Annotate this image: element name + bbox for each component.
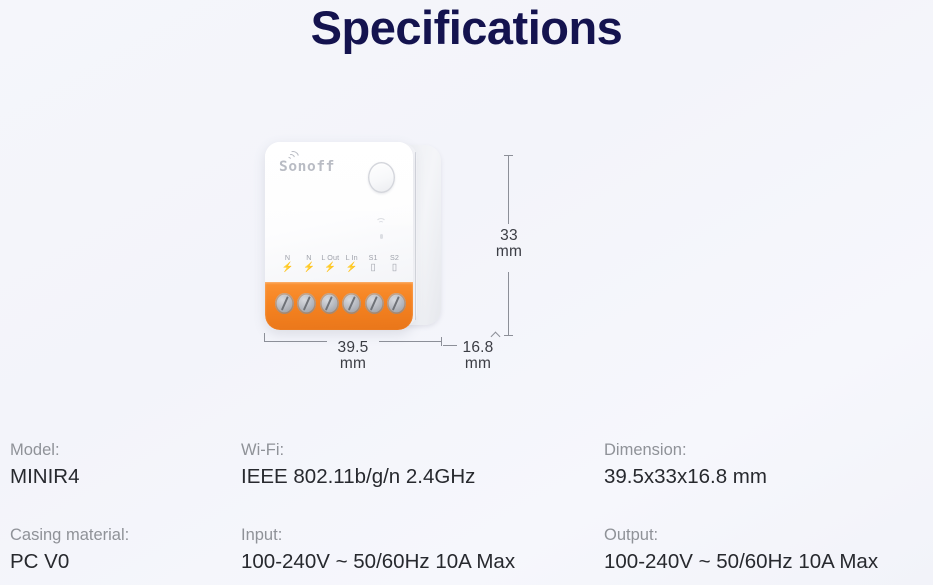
spec-label: Casing material: [10,525,129,546]
screw-terminal [320,293,339,314]
spec-row: Casing material: PC V0 Input: 100-240V ~… [0,525,933,585]
spec-label: Dimension: [604,440,767,461]
terminal-label: S1 ▯ [363,254,384,272]
depth-unit: mm [452,356,504,372]
page-title: Specifications [0,2,933,55]
terminal-label-row: N ⚡ N ⚡ L Out ⚡ L In ⚡ S1 ▯ S2 ▯ [277,254,405,272]
spec-value: 100-240V ~ 50/60Hz 10A Max [604,549,878,575]
spec-label: Model: [10,440,79,461]
screw-terminal [387,293,406,314]
push-button[interactable] [368,162,395,193]
screw-terminal [342,293,361,314]
terminal-name: S2 [384,254,405,262]
spec-item-model: Model: MINIR4 [10,440,79,489]
spec-value: IEEE 802.11b/g/n 2.4GHz [241,464,475,490]
specifications-grid: Model: MINIR4 Wi-Fi: IEEE 802.11b/g/n 2.… [0,440,933,585]
screw-terminal [365,293,384,314]
spec-value: 100-240V ~ 50/60Hz 10A Max [241,549,515,575]
width-value: 39.5 [338,339,369,356]
spec-label: Input: [241,525,515,546]
spec-item-casing-material: Casing material: PC V0 [10,525,129,574]
height-value: 33 [500,227,518,244]
device-front-face: Sonoff N ⚡ N ⚡ L Out ⚡ L In ⚡ [265,142,413,330]
height-dim-label: 33 mm [486,228,532,260]
width-dim-line-left [265,341,327,342]
spec-label: Wi-Fi: [241,440,475,461]
lightning-icon: ⚡ [341,263,362,273]
lightning-icon: ⚡ [320,263,341,273]
width-dim-line-right [379,341,441,342]
terminal-name: S1 [363,254,384,262]
sonoff-logo: Sonoff [279,160,335,175]
lightning-icon: ⚡ [277,263,298,273]
spec-item-wifi: Wi-Fi: IEEE 802.11b/g/n 2.4GHz [241,440,475,489]
lightning-icon: ⚡ [298,263,319,273]
switch-icon: ▯ [384,263,405,273]
spec-item-output: Output: 100-240V ~ 50/60Hz 10A Max [604,525,878,574]
terminal-label: N ⚡ [298,254,319,272]
terminal-label: L Out ⚡ [320,254,341,272]
terminal-name: L Out [320,254,341,262]
width-dim-label: 39.5 mm [327,340,379,372]
terminal-name: N [277,254,298,262]
depth-dim-label: 16.8 mm [452,340,504,372]
led-indicator [380,234,383,239]
spec-row: Model: MINIR4 Wi-Fi: IEEE 802.11b/g/n 2.… [0,440,933,525]
spec-value: PC V0 [10,549,129,575]
height-tick-bottom [504,335,513,336]
terminal-label: L In ⚡ [341,254,362,272]
terminal-label: S2 ▯ [384,254,405,272]
spec-label: Output: [604,525,878,546]
wifi-icon [375,218,387,227]
terminal-name: N [298,254,319,262]
width-tick-right [441,337,442,346]
spec-item-input: Input: 100-240V ~ 50/60Hz 10A Max [241,525,515,574]
device-seam-line [415,152,416,320]
height-dim-line-upper [508,156,509,224]
screw-terminal [297,293,316,314]
terminal-block [265,282,413,330]
width-unit: mm [327,356,379,372]
height-unit: mm [486,244,532,260]
switch-icon: ▯ [363,263,384,273]
terminal-label: N ⚡ [277,254,298,272]
height-dim-line-lower [508,272,509,335]
spec-value: MINIR4 [10,464,79,490]
spec-value: 39.5x33x16.8 mm [604,464,767,490]
spec-item-dimension: Dimension: 39.5x33x16.8 mm [604,440,767,489]
depth-value: 16.8 [463,339,494,356]
screw-terminal-row [275,293,406,314]
screw-terminal [275,293,294,314]
terminal-name: L In [341,254,362,262]
